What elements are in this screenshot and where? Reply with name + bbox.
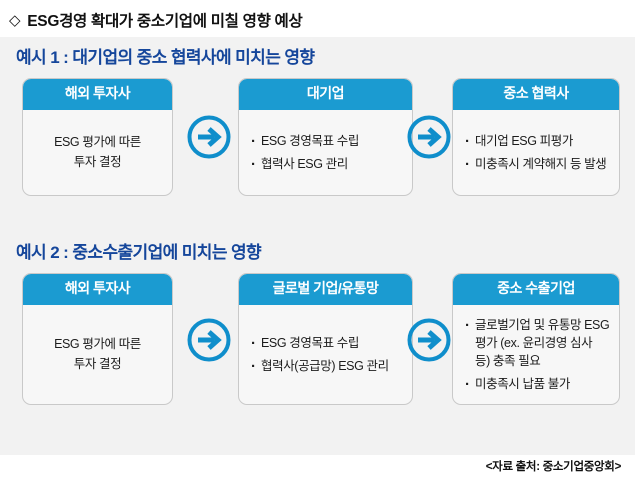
- card-body: ESG 경영목표 수립 협력사 ESG 관리: [239, 110, 412, 196]
- list-item: ESG 경영목표 수립: [251, 334, 403, 352]
- section-2-title: 예시 2 : 중소수출기업에 미치는 영향: [16, 243, 635, 263]
- card-text-line-1: ESG 평가에 따른: [54, 335, 141, 354]
- bullet-list: 대기업 ESG 피평가 미충족시 계약해지 등 발생: [465, 132, 610, 173]
- card-header-label: 해외 투자사: [23, 274, 172, 304]
- card-overseas-investor-2[interactable]: 해외 투자사 ESG 평가에 따른 투자 결정: [22, 273, 173, 405]
- card-large-enterprise[interactable]: 대기업 ESG 경영목표 수립 협력사 ESG 관리: [238, 78, 413, 196]
- diamond-outline-icon: ◇: [9, 13, 20, 28]
- card-body: ESG 평가에 따른 투자 결정: [23, 110, 172, 196]
- card-body: ESG 경영목표 수립 협력사(공급망) ESG 관리: [239, 305, 412, 405]
- bullet-list: ESG 경영목표 수립 협력사(공급망) ESG 관리: [251, 334, 403, 375]
- section-1-title: 예시 1 : 대기업의 중소 협력사에 미치는 영향: [16, 48, 635, 68]
- arrow-right-icon: [186, 317, 232, 363]
- section-example-2: 예시 2 : 중소수출기업에 미치는 영향 해외 투자사 ESG 평가에 따른 …: [0, 243, 635, 405]
- section-1-cards: 해외 투자사 ESG 평가에 따른 투자 결정 대기업: [0, 78, 635, 196]
- card-sme-exporter[interactable]: 중소 수출기업 글로벌기업 및 유통망 ESG 평가 (ex. 윤리경영 심사 …: [452, 273, 620, 405]
- card-header-label: 대기업: [239, 79, 412, 109]
- card-text-line-2: 투자 결정: [54, 153, 141, 172]
- card-global-enterprise-distribution[interactable]: 글로벌 기업/유통망 ESG 경영목표 수립 협력사(공급망) ESG 관리: [238, 273, 413, 405]
- card-sme-partner[interactable]: 중소 협력사 대기업 ESG 피평가 미충족시 계약해지 등 발생: [452, 78, 620, 196]
- card-body: 대기업 ESG 피평가 미충족시 계약해지 등 발생: [453, 110, 619, 196]
- card-body: 글로벌기업 및 유통망 ESG 평가 (ex. 윤리경영 심사 등) 충족 필요…: [453, 305, 619, 405]
- card-header-label: 글로벌 기업/유통망: [239, 274, 412, 304]
- card-header-label: 해외 투자사: [23, 79, 172, 109]
- card-text-line-1: ESG 평가에 따른: [54, 133, 141, 152]
- card-header-label: 중소 협력사: [453, 79, 619, 109]
- card-overseas-investor-1[interactable]: 해외 투자사 ESG 평가에 따른 투자 결정: [22, 78, 173, 196]
- source-attribution: <자료 출처: 중소기업중앙회>: [486, 458, 621, 474]
- card-text-line-2: 투자 결정: [54, 355, 141, 374]
- list-item: 협력사(공급망) ESG 관리: [251, 357, 403, 375]
- card-header-label: 중소 수출기업: [453, 274, 619, 304]
- page-title-text: ESG경영 확대가 중소기업에 미칠 영향 예상: [27, 9, 302, 31]
- page-title: ◇ ESG경영 확대가 중소기업에 미칠 영향 예상: [9, 9, 302, 31]
- list-item: 미충족시 납품 불가: [465, 375, 610, 393]
- content-panel: 예시 1 : 대기업의 중소 협력사에 미치는 영향 해외 투자사 ESG 평가…: [0, 37, 635, 455]
- list-item: ESG 경영목표 수립: [251, 132, 403, 150]
- card-body: ESG 평가에 따른 투자 결정: [23, 305, 172, 405]
- arrow-right-icon: [406, 114, 452, 160]
- arrow-right-icon: [406, 317, 452, 363]
- section-2-cards: 해외 투자사 ESG 평가에 따른 투자 결정 글로벌 기업/유통망: [0, 273, 635, 405]
- bullet-list: ESG 경영목표 수립 협력사 ESG 관리: [251, 132, 403, 173]
- list-item: 미충족시 계약해지 등 발생: [465, 155, 610, 173]
- list-item: 협력사 ESG 관리: [251, 155, 403, 173]
- bullet-list: 글로벌기업 및 유통망 ESG 평가 (ex. 윤리경영 심사 등) 충족 필요…: [465, 316, 610, 394]
- list-item: 글로벌기업 및 유통망 ESG 평가 (ex. 윤리경영 심사 등) 충족 필요: [465, 316, 610, 370]
- section-example-1: 예시 1 : 대기업의 중소 협력사에 미치는 영향 해외 투자사 ESG 평가…: [0, 48, 635, 196]
- list-item: 대기업 ESG 피평가: [465, 132, 610, 150]
- arrow-right-icon: [186, 114, 232, 160]
